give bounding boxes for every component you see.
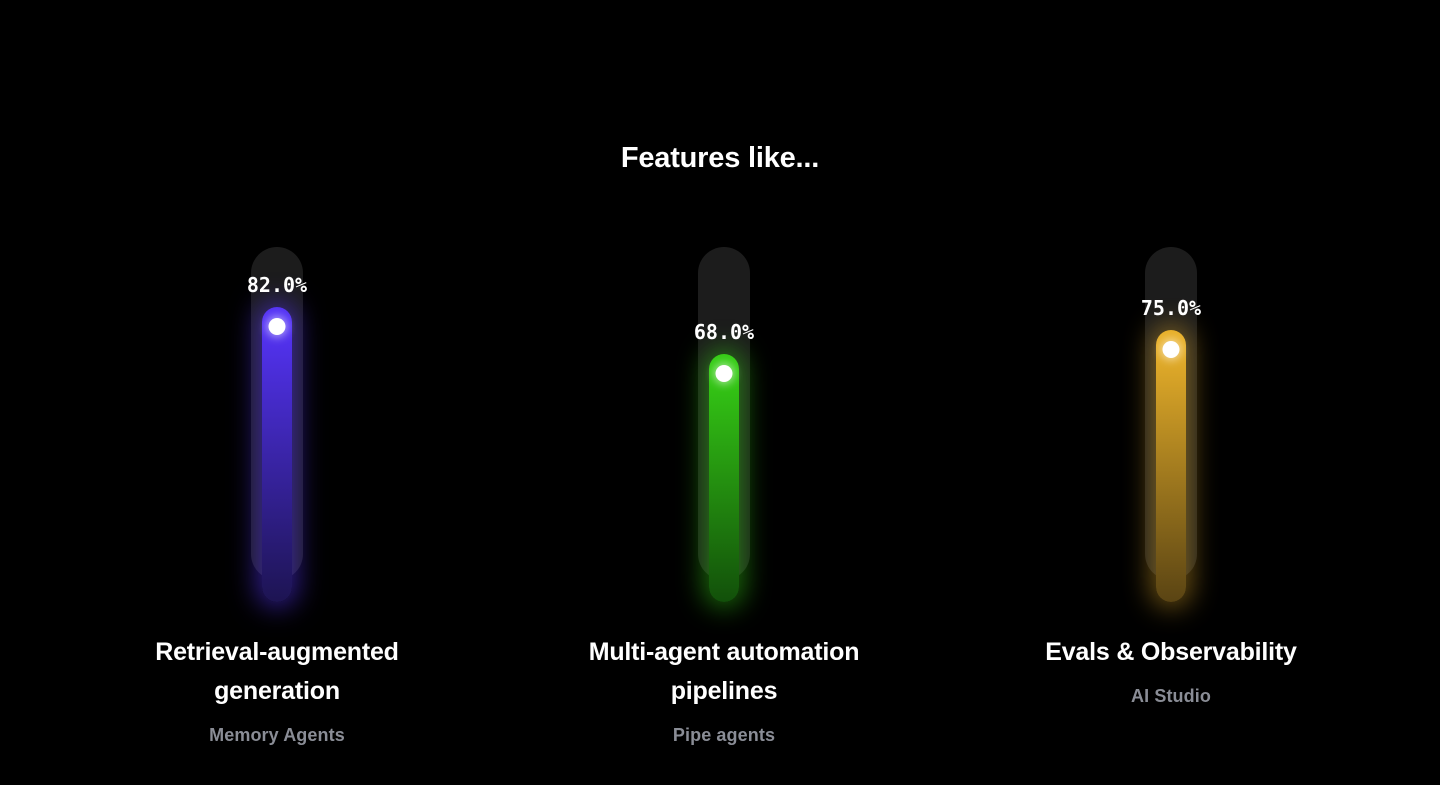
gauge-value-label: 68.0% [694,320,754,344]
gauge-caption: Evals & ObservabilityAI Studio [1006,633,1336,707]
gauge-caption-title: Multi-agent automation pipelines [559,633,889,711]
gauge-item: 75.0%Evals & ObservabilityAI Studio [948,0,1394,785]
gauge-caption-subtitle: Memory Agents [112,725,442,746]
gauge-value-label: 82.0% [247,273,307,297]
gauge-caption-title: Evals & Observability [1006,633,1336,672]
gauge-fill [709,354,739,602]
gauge-row: 82.0%Retrieval-augmented generationMemor… [0,0,1440,785]
gauge-caption-subtitle: AI Studio [1006,686,1336,707]
gauge-knob-handle[interactable] [716,365,733,382]
gauge-caption: Retrieval-augmented generationMemory Age… [112,633,442,746]
gauge-fill [262,307,292,602]
gauge-item: 68.0%Multi-agent automation pipelinesPip… [501,0,947,785]
gauge-caption: Multi-agent automation pipelinesPipe age… [559,633,889,746]
gauge-track[interactable] [698,247,750,580]
gauge-knob-handle[interactable] [1163,341,1180,358]
gauge-caption-subtitle: Pipe agents [559,725,889,746]
gauge-item: 82.0%Retrieval-augmented generationMemor… [54,0,500,785]
gauge-fill [1156,330,1186,602]
gauge-knob-handle[interactable] [269,318,286,335]
gauge-value-label: 75.0% [1141,296,1201,320]
gauge-caption-title: Retrieval-augmented generation [112,633,442,711]
